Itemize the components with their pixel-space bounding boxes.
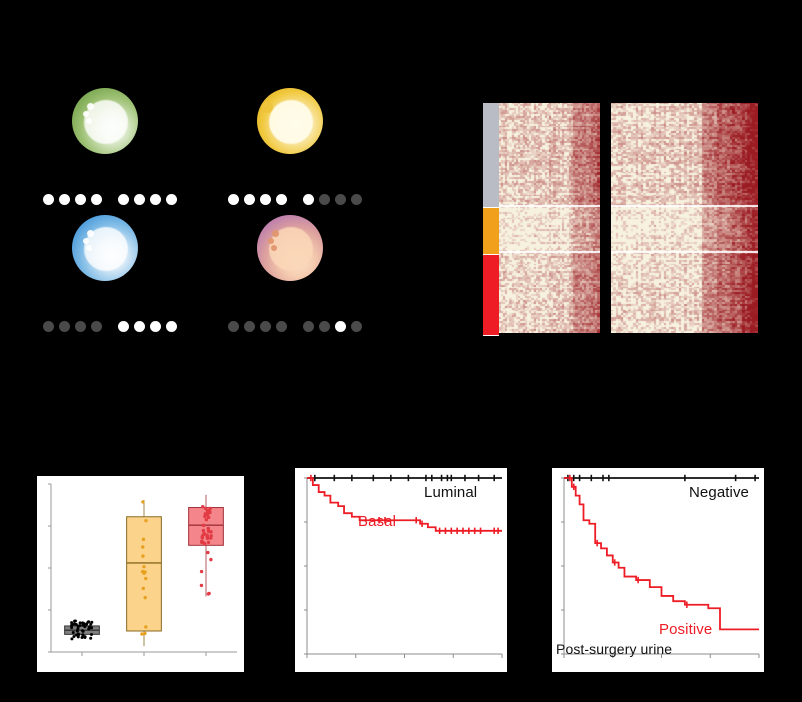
status-dot-on — [260, 194, 271, 205]
status-dot-off — [75, 321, 86, 332]
figure-canvas: Luminal Basal Negative Positive Post-sur… — [0, 0, 802, 702]
cell-blue-granule-icon — [83, 238, 89, 244]
km1-luminal-label: Luminal — [424, 484, 477, 501]
heatmap-right-cells — [611, 103, 758, 333]
cell-blue-dots-right — [118, 321, 177, 332]
boxplot-svg — [37, 476, 244, 672]
heatmap-left — [483, 103, 600, 333]
status-dot-on — [166, 194, 177, 205]
cell-blue-body — [72, 215, 138, 281]
km2-title-label: Post-surgery urine — [556, 641, 672, 657]
status-dot-on — [134, 194, 145, 205]
cell-yellow-dots-right — [303, 194, 362, 205]
cell-purple-granule-icon — [271, 245, 277, 251]
status-dot-on — [276, 194, 287, 205]
cell-green-status-dots — [30, 194, 200, 208]
status-dot-on — [134, 321, 145, 332]
cell-green — [30, 88, 200, 208]
status-dot-off — [319, 321, 330, 332]
status-dot-on — [166, 321, 177, 332]
status-dot-off — [228, 321, 239, 332]
km1-basal-label: Basal — [358, 513, 396, 530]
status-dot-on — [118, 194, 129, 205]
cell-yellow-status-dots — [215, 194, 385, 208]
cell-green-granule-icon — [83, 111, 89, 117]
cell-purple — [215, 215, 385, 335]
cell-blue-granule-icon — [86, 245, 92, 251]
heatmap-right — [611, 103, 758, 333]
cell-yellow — [215, 88, 385, 208]
status-dot-off — [244, 321, 255, 332]
status-dot-off — [59, 321, 70, 332]
cell-yellow-dots-left — [228, 194, 287, 205]
cell-yellow-body — [257, 88, 323, 154]
status-dot-on — [118, 321, 129, 332]
cell-green-dots-left — [43, 194, 102, 205]
annotation-band-group-red — [483, 255, 499, 337]
cell-purple-dots-left — [228, 321, 287, 332]
km2-negative-label: Negative — [689, 484, 749, 501]
status-dot-off — [335, 194, 346, 205]
cell-purple-dots-right — [303, 321, 362, 332]
status-dot-off — [276, 321, 287, 332]
status-dot-on — [303, 194, 314, 205]
cell-blue-status-dots — [30, 321, 200, 335]
status-dot-off — [303, 321, 314, 332]
status-dot-off — [91, 321, 102, 332]
heatmap-panel — [483, 103, 758, 333]
boxplot-panel — [37, 476, 244, 672]
status-dot-off — [260, 321, 271, 332]
annotation-band-group-gray — [483, 103, 499, 208]
cell-green-granule-icon — [86, 118, 92, 124]
cell-purple-granule-icon — [272, 230, 279, 237]
km2-positive-label: Positive — [659, 621, 712, 638]
heatmap-annotation-sidebar — [483, 103, 499, 333]
status-dot-off — [351, 321, 362, 332]
cell-yellow-granule-icon — [262, 102, 273, 113]
status-dot-off — [43, 321, 54, 332]
cell-green-body — [72, 88, 138, 154]
heatmap-left-cells — [499, 103, 600, 333]
status-dot-on — [91, 194, 102, 205]
status-dot-on — [75, 194, 86, 205]
status-dot-on — [150, 194, 161, 205]
status-dot-on — [335, 321, 346, 332]
annotation-band-group-orange — [483, 208, 499, 255]
status-dot-on — [43, 194, 54, 205]
cell-green-granule-icon — [87, 103, 94, 110]
status-dot-off — [351, 194, 362, 205]
status-dot-on — [150, 321, 161, 332]
cell-yellow-nucleus — [269, 100, 313, 144]
cell-purple-body — [257, 215, 323, 281]
status-dot-on — [228, 194, 239, 205]
cell-blue-dots-left — [43, 321, 102, 332]
status-dot-on — [244, 194, 255, 205]
cell-schematic-panel — [0, 60, 400, 330]
status-dot-off — [319, 194, 330, 205]
cell-blue-granule-icon — [87, 230, 94, 237]
cell-purple-granule-icon — [268, 238, 274, 244]
status-dot-on — [59, 194, 70, 205]
cell-green-dots-right — [118, 194, 177, 205]
cell-purple-status-dots — [215, 321, 385, 335]
cell-blue — [30, 215, 200, 335]
